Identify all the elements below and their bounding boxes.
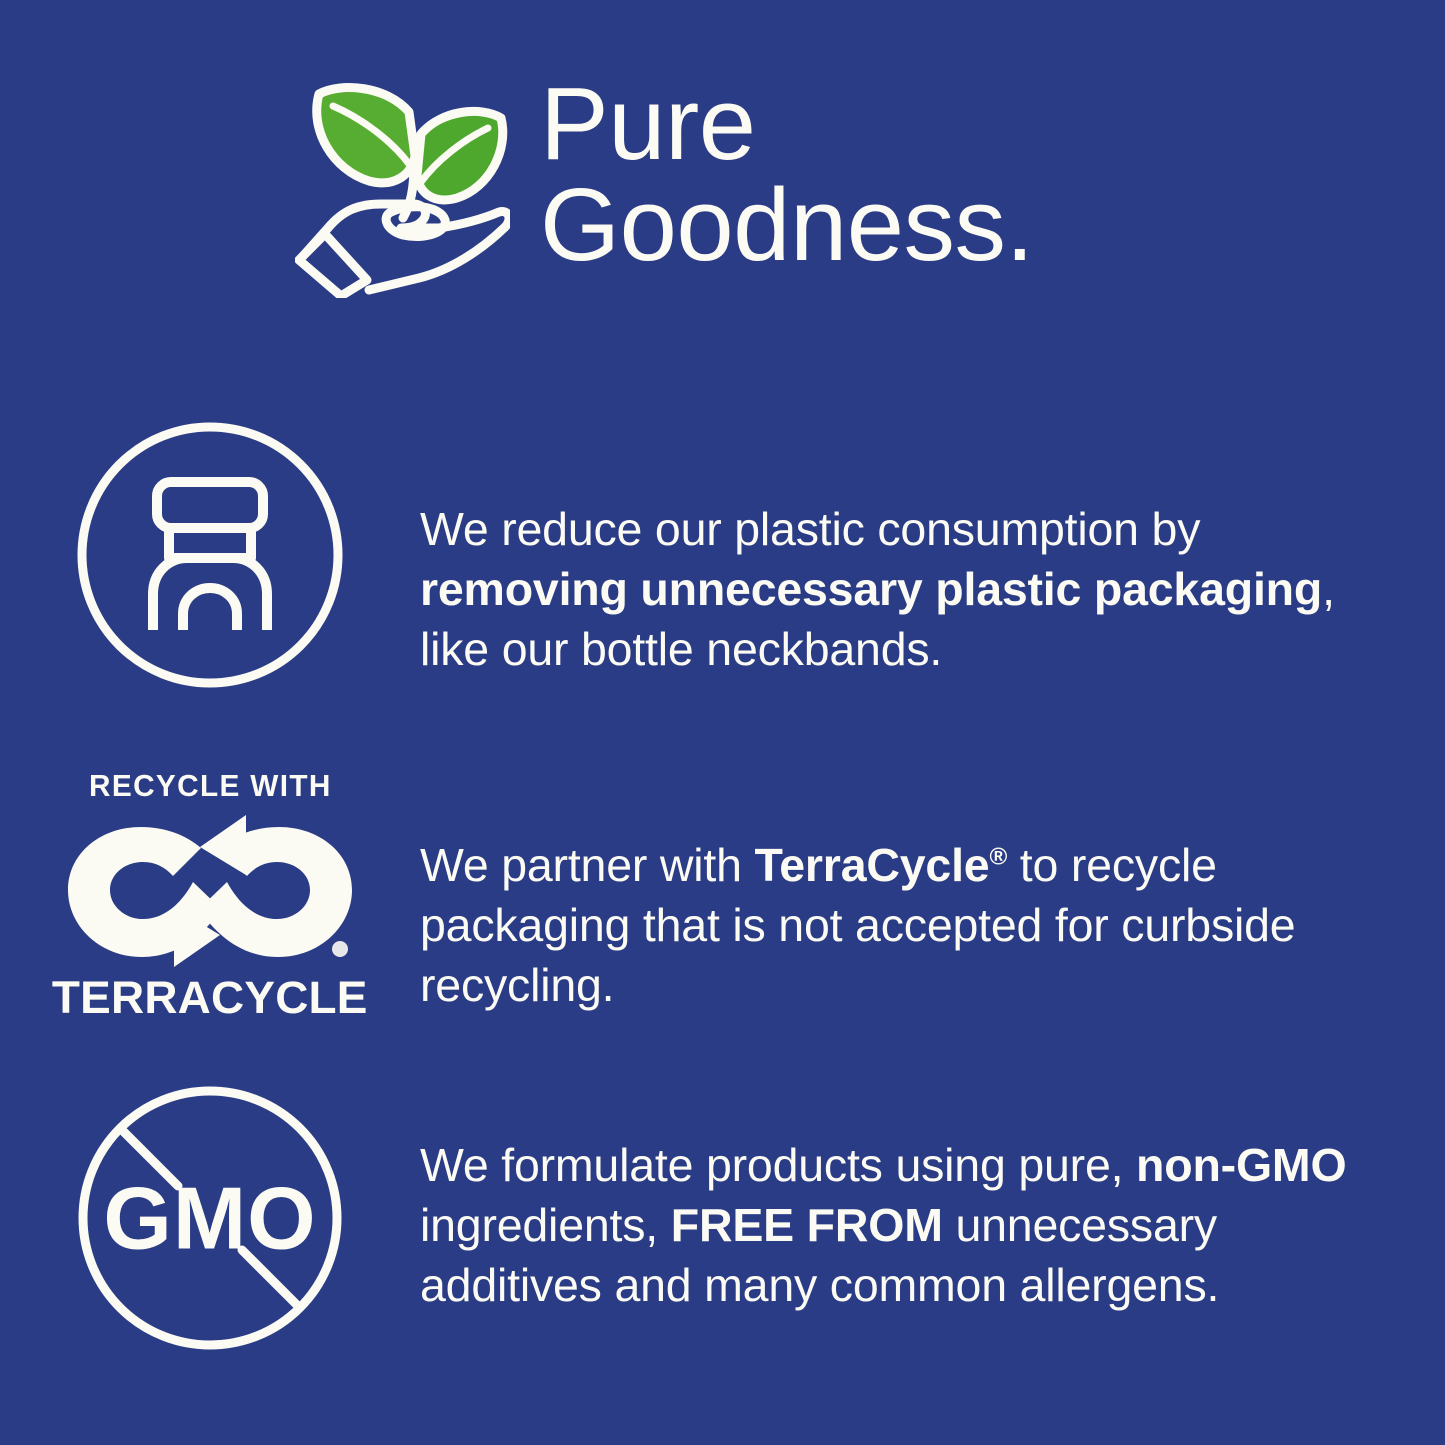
text-cell: We reduce our plastic consumption by rem… <box>420 400 1445 726</box>
text-run: We reduce our plastic consumption by <box>420 503 1200 555</box>
no-gmo-icon: GMO <box>74 1082 346 1354</box>
icon-cell: RECYCLE WITH <box>0 730 420 1020</box>
statement-text-gmo: We formulate products using pure, non-GM… <box>420 1135 1390 1316</box>
statement-text-terracycle: We partner with TerraCycle® to recycle p… <box>420 835 1390 1016</box>
statement-list: We reduce our plastic consumption by rem… <box>0 400 1445 1400</box>
gmo-label-text: GMO <box>103 1169 316 1268</box>
registered-mark: ® <box>989 843 1007 870</box>
text-cell: We formulate products using pure, non-GM… <box>420 1060 1445 1362</box>
statement-row-plastic: We reduce our plastic consumption by rem… <box>0 400 1445 730</box>
text-cell: We partner with TerraCycle® to recycle p… <box>420 730 1445 1062</box>
text-run: We formulate products using pure, <box>420 1139 1136 1191</box>
statement-row-terracycle: RECYCLE WITH <box>0 730 1445 1060</box>
statement-text-plastic: We reduce our plastic consumption by rem… <box>420 499 1390 680</box>
header: Pure Goodness. <box>295 72 1355 322</box>
icon-cell: GMO <box>0 1060 420 1354</box>
pure-goodness-infographic: Pure Goodness. <box>0 0 1445 1445</box>
terracycle-top-label: RECYCLE WITH <box>89 770 332 801</box>
text-run: We partner with <box>420 839 755 891</box>
terracycle-bottom-label: TERRACYCLE <box>52 975 368 1020</box>
statement-row-gmo: GMO We formulate products using pure, no… <box>0 1060 1445 1400</box>
emphasis-run: FREE FROM <box>671 1199 943 1251</box>
icon-cell <box>0 400 420 692</box>
page-title: Pure Goodness. <box>540 72 1034 276</box>
emphasis-run: non-GMO <box>1136 1139 1346 1191</box>
text-run: ingredients, <box>420 1199 671 1251</box>
hand-holding-sprout-icon <box>295 78 510 298</box>
emphasis-run: TerraCycle® <box>755 839 1008 891</box>
terracycle-logo: RECYCLE WITH <box>64 770 356 1020</box>
infinity-recycle-icon <box>64 809 356 971</box>
emphasis-run: removing unnecessary plastic packaging <box>420 563 1322 615</box>
bottle-in-circle-icon <box>73 418 347 692</box>
